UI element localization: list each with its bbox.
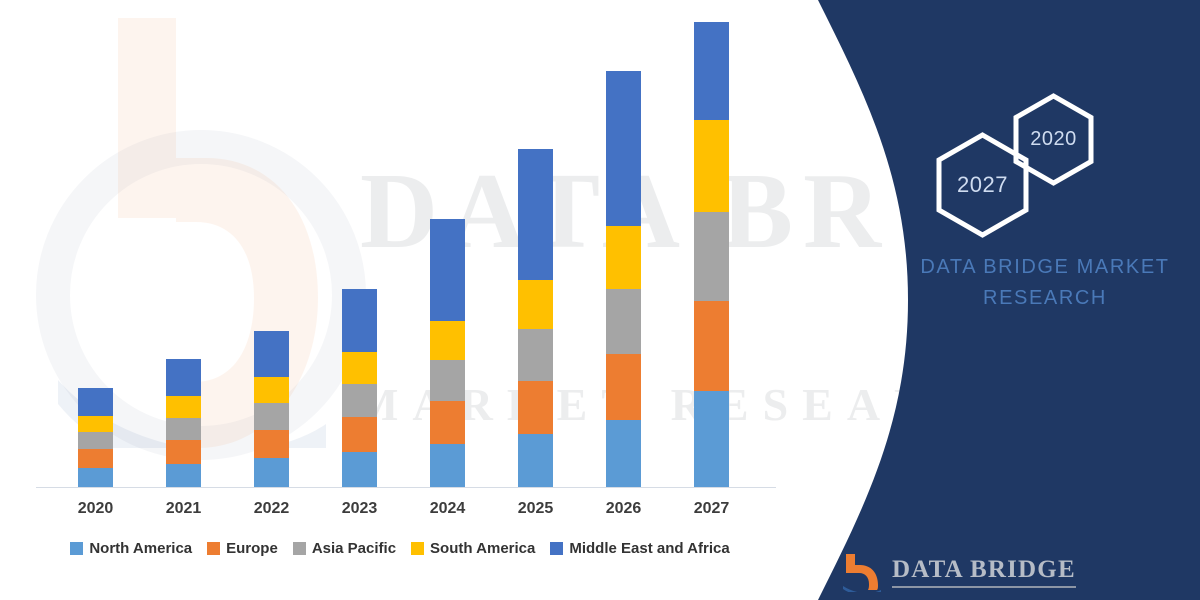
bar-segment — [694, 391, 729, 488]
bar-segment — [78, 432, 113, 449]
bar-segment — [430, 219, 465, 320]
bar-segment — [254, 458, 289, 488]
legend-label: Middle East and Africa — [569, 540, 729, 557]
chart-legend: North AmericaEuropeAsia PacificSouth Ame… — [0, 540, 800, 557]
bar-segment — [518, 434, 553, 488]
bar-segment — [254, 331, 289, 377]
bar-segment — [606, 289, 641, 354]
bar-segment — [342, 289, 377, 352]
bridge-mark-icon — [843, 552, 881, 592]
bar-segment — [78, 388, 113, 416]
legend-item-south-america[interactable]: South America — [411, 540, 535, 557]
x-tick-2025: 2025 — [496, 500, 576, 518]
x-tick-2020: 2020 — [56, 500, 136, 518]
plot-area — [36, 20, 776, 488]
legend-item-north-america[interactable]: North America — [70, 540, 192, 557]
bar-segment — [518, 280, 553, 330]
bar-segment — [342, 384, 377, 417]
legend-swatch-icon — [207, 542, 220, 555]
stacked-bar-chart: 20202021202220232024202520262027 North A… — [0, 0, 800, 600]
bar-segment — [518, 149, 553, 280]
bar-segment — [342, 352, 377, 384]
hexagon-badge-2020: 2020 — [1012, 92, 1095, 187]
logo-wordmark: DATA BRIDGE — [892, 556, 1076, 588]
bar-2025 — [518, 149, 553, 488]
bar-segment — [166, 464, 201, 488]
legend-label: North America — [89, 540, 192, 557]
bar-segment — [430, 401, 465, 444]
bar-segment — [342, 417, 377, 452]
bar-segment — [694, 301, 729, 391]
bar-segment — [78, 449, 113, 468]
bar-segment — [254, 403, 289, 430]
x-tick-2023: 2023 — [320, 500, 400, 518]
legend-item-europe[interactable]: Europe — [207, 540, 278, 557]
bar-segment — [430, 444, 465, 488]
bar-segment — [166, 396, 201, 418]
bar-segment — [342, 452, 377, 488]
legend-label: Europe — [226, 540, 278, 557]
bar-segment — [606, 226, 641, 289]
bar-2026 — [606, 71, 641, 488]
x-tick-2022: 2022 — [232, 500, 312, 518]
bar-2024 — [430, 219, 465, 488]
legend-swatch-icon — [70, 542, 83, 555]
brand-title: DATA BRIDGE MARKET RESEARCH — [905, 252, 1185, 314]
bar-2023 — [342, 289, 377, 488]
hexagon-badge-2020-label: 2020 — [1030, 128, 1077, 151]
bar-segment — [166, 359, 201, 396]
bar-segment — [694, 212, 729, 301]
bar-segment — [166, 440, 201, 463]
x-tick-2024: 2024 — [408, 500, 488, 518]
x-axis-line — [36, 487, 776, 488]
x-tick-2027: 2027 — [672, 500, 752, 518]
bar-segment — [430, 360, 465, 401]
legend-swatch-icon — [293, 542, 306, 555]
legend-label: Asia Pacific — [312, 540, 396, 557]
bar-segment — [694, 120, 729, 212]
data-bridge-logo: DATA BRIDGE — [843, 552, 1076, 592]
bar-segment — [430, 321, 465, 361]
x-tick-2021: 2021 — [144, 500, 224, 518]
legend-item-middle-east-and-africa[interactable]: Middle East and Africa — [550, 540, 729, 557]
legend-item-asia-pacific[interactable]: Asia Pacific — [293, 540, 396, 557]
bar-2021 — [166, 359, 201, 488]
bar-segment — [606, 71, 641, 226]
bar-2022 — [254, 331, 289, 488]
bar-segment — [518, 381, 553, 434]
bar-segment — [518, 329, 553, 380]
brand-title-line-2: RESEARCH — [983, 287, 1107, 309]
bar-2020 — [78, 388, 113, 488]
bar-segment — [254, 430, 289, 458]
brand-title-line-1: DATA BRIDGE MARKET — [920, 256, 1169, 278]
infographic-root: DATA BR MARKET RESEARCH 2020202120222023… — [0, 0, 1200, 600]
bar-segment — [166, 418, 201, 440]
x-tick-2026: 2026 — [584, 500, 664, 518]
bar-segment — [78, 468, 113, 488]
hexagon-badge-2027-label: 2027 — [957, 172, 1008, 198]
legend-label: South America — [430, 540, 535, 557]
legend-swatch-icon — [550, 542, 563, 555]
bar-segment — [606, 354, 641, 420]
bar-segment — [254, 377, 289, 403]
legend-swatch-icon — [411, 542, 424, 555]
bar-segment — [78, 416, 113, 432]
bar-2027 — [694, 22, 729, 488]
bar-segment — [694, 22, 729, 120]
bar-segment — [606, 420, 641, 488]
